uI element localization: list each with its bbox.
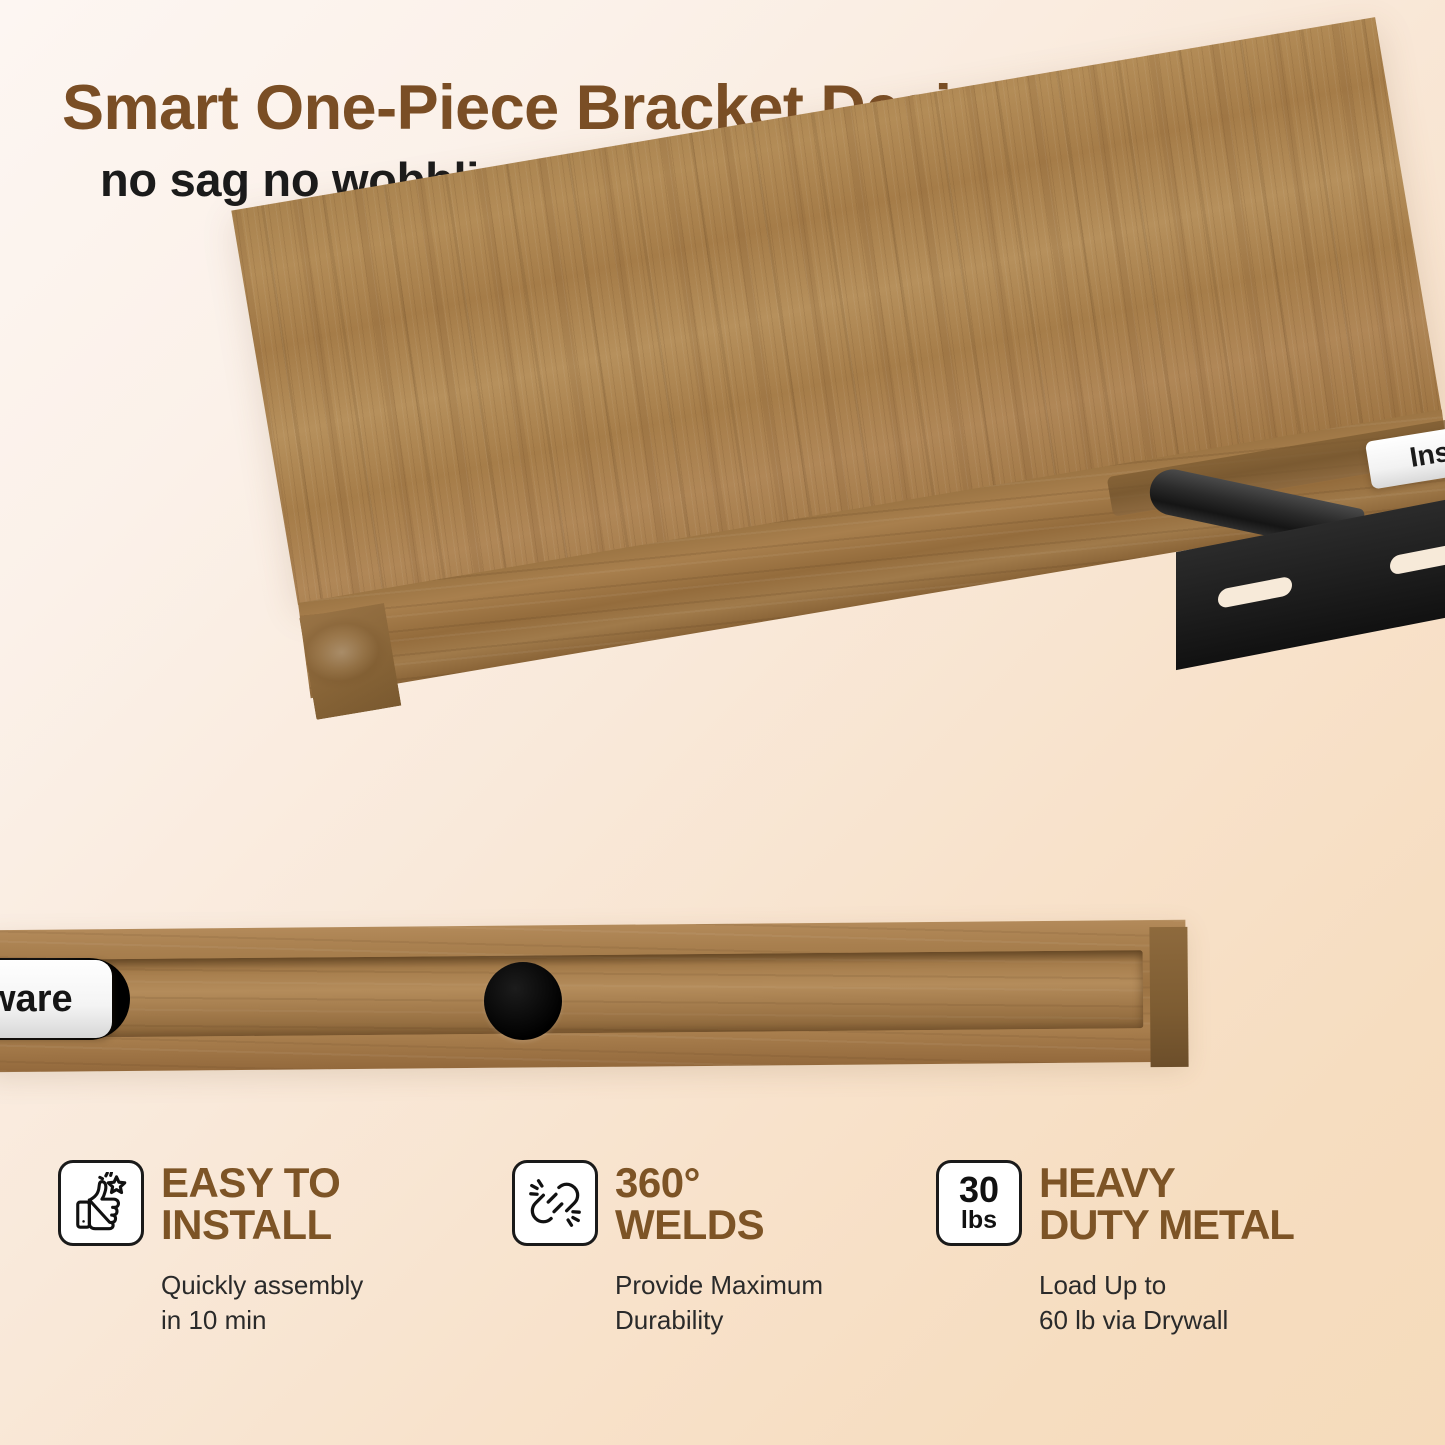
shelf-routed-channel bbox=[38, 950, 1144, 1038]
weight-unit: lbs bbox=[961, 1209, 997, 1233]
hardware-label-back: ware bbox=[0, 960, 112, 1038]
product-feature-poster: Smart One-Piece Bracket Design no sag no… bbox=[0, 0, 1445, 1445]
feature-head: 30 lbs HEAVY DUTY METAL bbox=[936, 1160, 1366, 1246]
feature-title: HEAVY DUTY METAL bbox=[1039, 1160, 1294, 1246]
chain-link-weld-icon bbox=[512, 1160, 598, 1246]
feature-heavy-duty-metal: 30 lbs HEAVY DUTY METAL Load Up to 60 lb… bbox=[936, 1160, 1366, 1338]
thumbs-up-star-icon bbox=[58, 1160, 144, 1246]
feature-badges: EASY TO INSTALL Quickly assembly in 10 m… bbox=[0, 1160, 1445, 1400]
weight-30lbs-icon: 30 lbs bbox=[936, 1160, 1022, 1246]
feature-description: Provide Maximum Durability bbox=[615, 1268, 942, 1338]
shelf-back-photo bbox=[0, 905, 1445, 1105]
feature-title: EASY TO INSTALL bbox=[161, 1160, 340, 1246]
hero-shelf-photo: Ins bbox=[0, 205, 1445, 765]
feature-description: Quickly assembly in 10 min bbox=[161, 1268, 488, 1338]
bracket-slot-icon bbox=[1218, 576, 1292, 609]
feature-description: Load Up to 60 lb via Drywall bbox=[1039, 1268, 1366, 1338]
shelf-back-end-face bbox=[1149, 927, 1188, 1067]
weight-icon-content: 30 lbs bbox=[959, 1173, 999, 1232]
weight-value: 30 bbox=[959, 1173, 999, 1207]
feature-head: 360° WELDS bbox=[512, 1160, 942, 1246]
feature-easy-to-install: EASY TO INSTALL Quickly assembly in 10 m… bbox=[58, 1160, 488, 1338]
shelf-end-grain-face bbox=[299, 603, 401, 720]
feature-head: EASY TO INSTALL bbox=[58, 1160, 488, 1246]
hardware-label-back-text: ware bbox=[0, 978, 73, 1021]
bracket-slot-icon bbox=[1390, 542, 1445, 575]
hardware-label-text: Ins bbox=[1407, 436, 1445, 474]
feature-title: 360° WELDS bbox=[615, 1160, 764, 1246]
mounting-hole-icon bbox=[484, 962, 562, 1040]
feature-360-welds: 360° WELDS Provide Maximum Durability bbox=[512, 1160, 942, 1338]
